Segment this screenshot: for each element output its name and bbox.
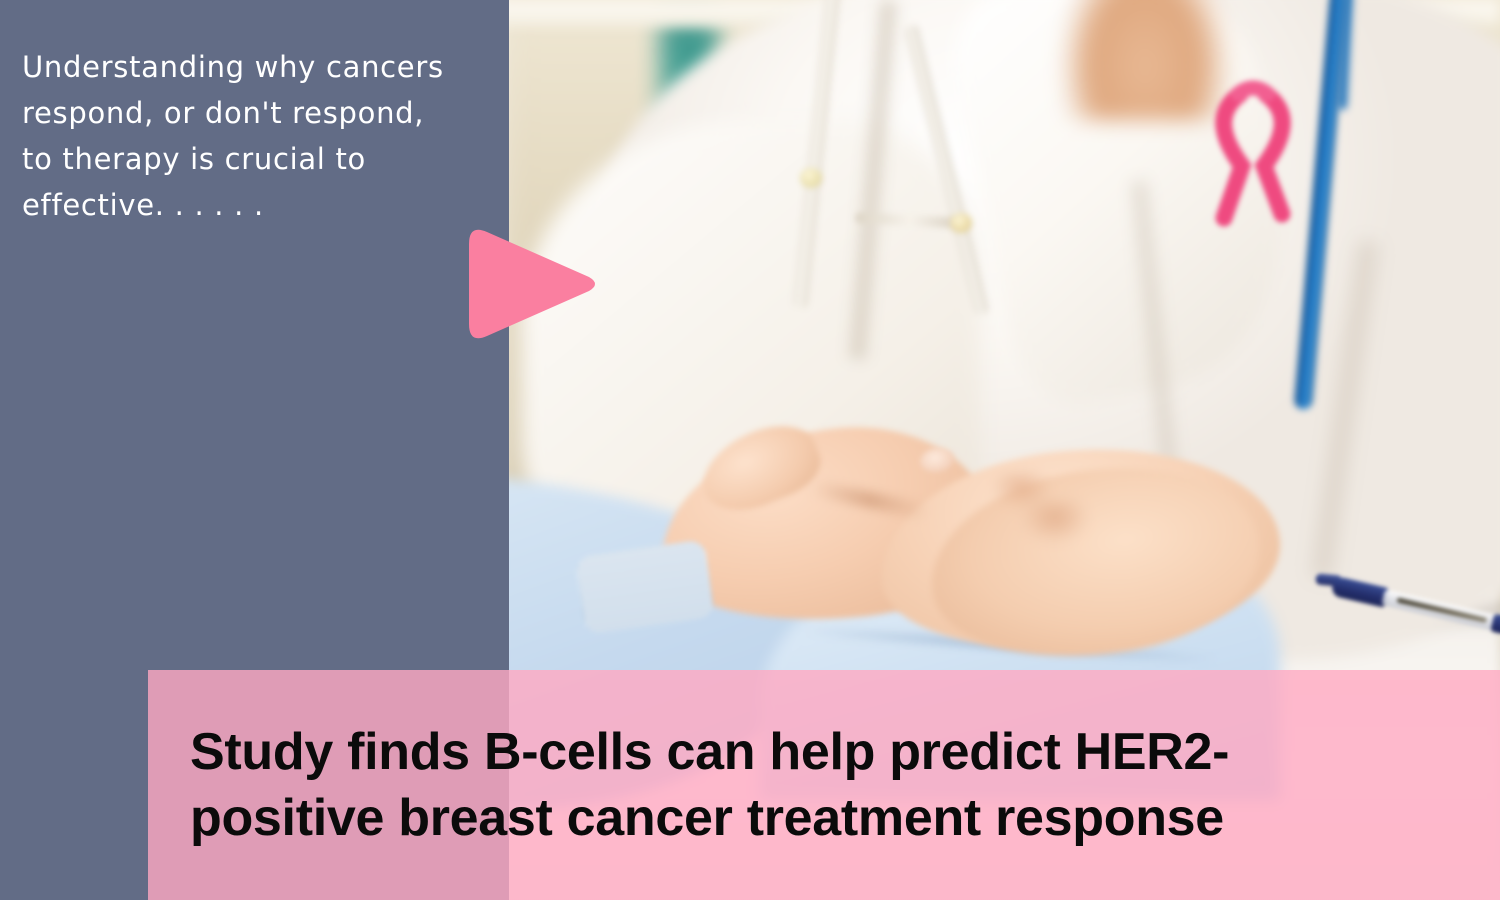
pink-awareness-ribbon-icon [1198, 78, 1308, 228]
knuckle-shadow [1020, 500, 1090, 544]
headline-text: Study finds B-cells can help predict HER… [190, 719, 1229, 851]
headline-bar: Study finds B-cells can help predict HER… [148, 670, 1500, 900]
quote-text: Understanding why cancers respond, or do… [22, 44, 477, 228]
promo-image: Understanding why cancers respond, or do… [0, 0, 1500, 900]
play-triangle-icon [463, 210, 597, 358]
stethoscope-earbud [800, 168, 822, 188]
play-button[interactable] [463, 210, 597, 358]
stethoscope-earbud [950, 213, 972, 233]
